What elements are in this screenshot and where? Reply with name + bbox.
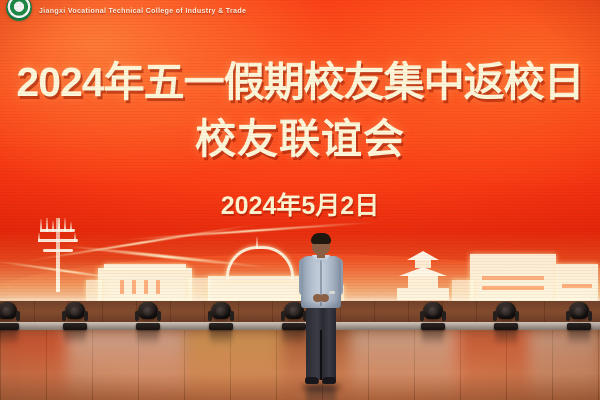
moving-head-stage-light (493, 302, 519, 330)
floor-reflection (452, 330, 532, 400)
moving-head-stage-light (208, 302, 234, 330)
presenter-wristwatch (329, 291, 335, 294)
floor-reflection (186, 330, 282, 400)
moving-head-stage-light (566, 302, 592, 330)
moving-head-stage-light (420, 302, 446, 330)
presenter-shoe-right (322, 377, 336, 384)
event-photo-scene: Jiangxi Vocational Technical College of … (0, 0, 600, 400)
presenter-floor-reflection (306, 386, 336, 400)
moving-head-stage-light (0, 302, 20, 330)
presenter-figure (299, 234, 343, 390)
moving-head-stage-light (62, 302, 88, 330)
presenter-hand-right (320, 294, 329, 302)
presenter-hair (311, 233, 331, 244)
moving-head-stage-light (135, 302, 161, 330)
presenter-shoe-left (305, 377, 319, 384)
